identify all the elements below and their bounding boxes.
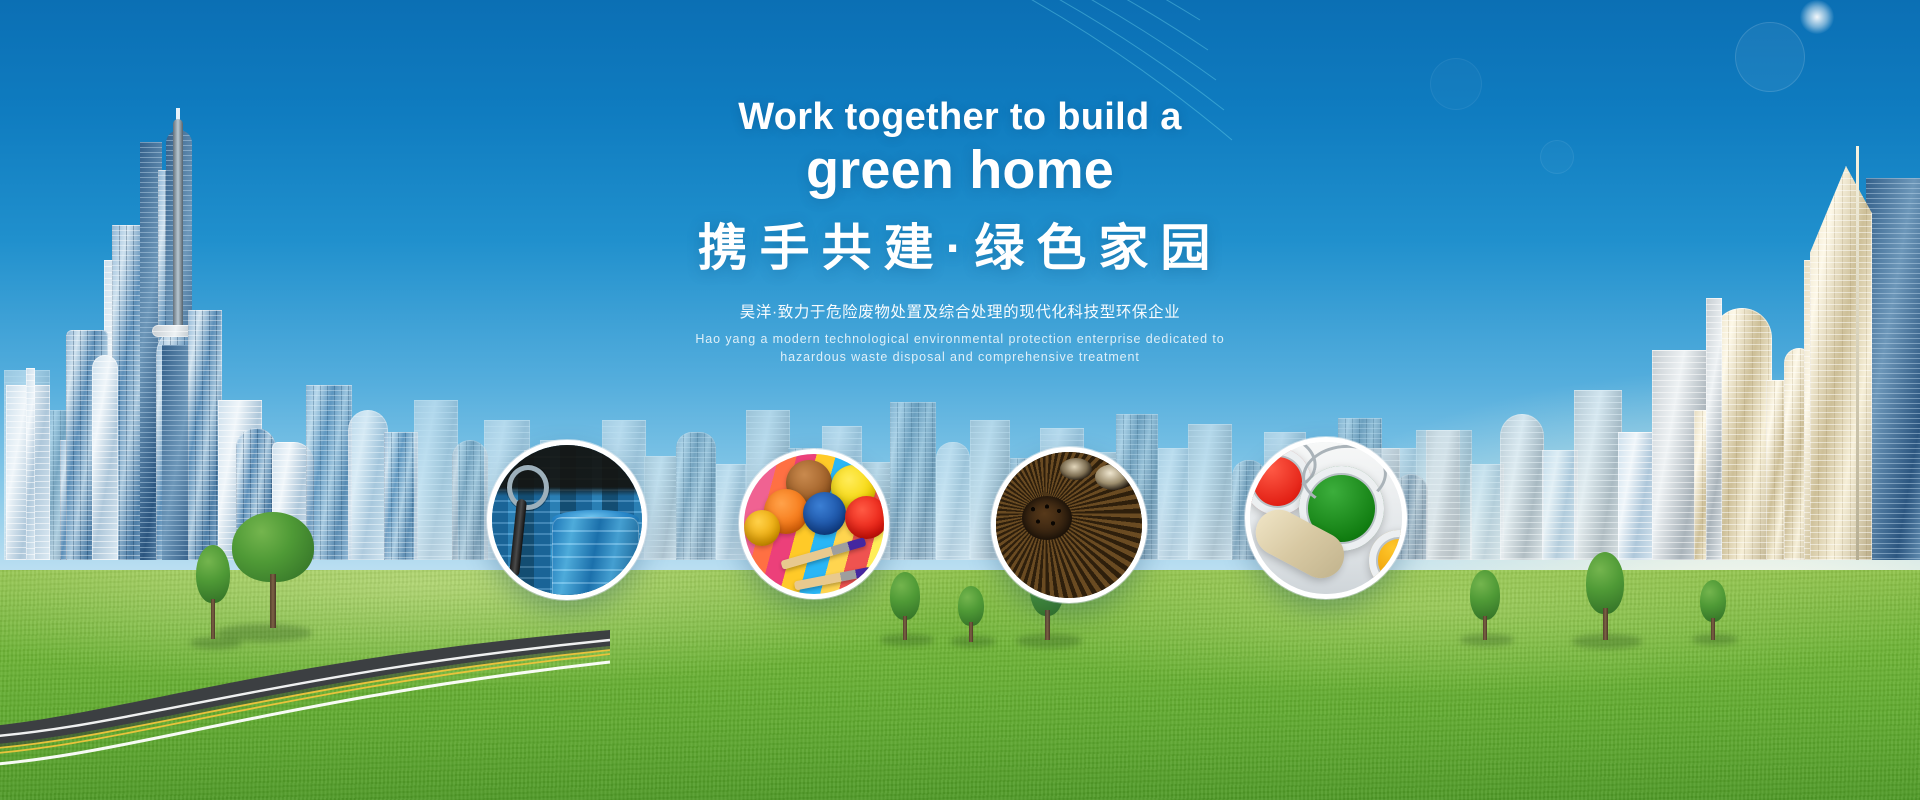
subtitle-english-line-1: Hao yang a modern technological environm… [0,330,1920,348]
bokeh-circle-large [1735,22,1805,92]
headline-english-line-2: green home [0,141,1920,200]
filter-ring-top [1060,458,1092,480]
paint-pot-blue [803,492,846,535]
subtitle-english: Hao yang a modern technological environm… [0,330,1920,366]
subtitle-english-line-2: hazardous waste disposal and comprehensi… [0,348,1920,366]
photo-circle-spent-oil-filters[interactable] [991,447,1147,603]
photo-circle-colorful-paint-pots[interactable] [739,449,889,599]
photo-blue-steel-drums [492,445,642,595]
photo-paint-buckets-roller [1250,442,1402,594]
paint-pot-gold [744,510,780,546]
hero-copy-block: Work together to build a green home 携手共建… [0,96,1920,366]
drum-hose [509,499,527,578]
photo-circle-paint-buckets-roller[interactable] [1245,437,1407,599]
paint-brush-small [794,567,873,591]
filter-perforated-core [1022,496,1072,540]
photo-circle-blue-steel-drums[interactable] [487,440,647,600]
paint-bucket-yellow [1369,530,1407,591]
paint-pot-red [845,496,888,539]
drum-body [552,517,639,600]
headline-english-line-1: Work together to build a [0,96,1920,139]
drum-lifting-hook-icon [507,465,549,510]
photo-spent-oil-filters [996,452,1142,598]
subtitle-chinese: 昊洋·致力于危险废物处置及综合处理的现代化科技型环保企业 [0,300,1920,322]
photo-colorful-paint-pots [744,454,884,594]
filter-ring-right [1095,464,1133,490]
paint-brush-large [781,537,867,570]
headline-chinese: 携手共建·绿色家园 [0,218,1920,278]
bokeh-glow-small [1800,0,1834,34]
hero-banner: Work together to build a green home 携手共建… [0,0,1920,800]
